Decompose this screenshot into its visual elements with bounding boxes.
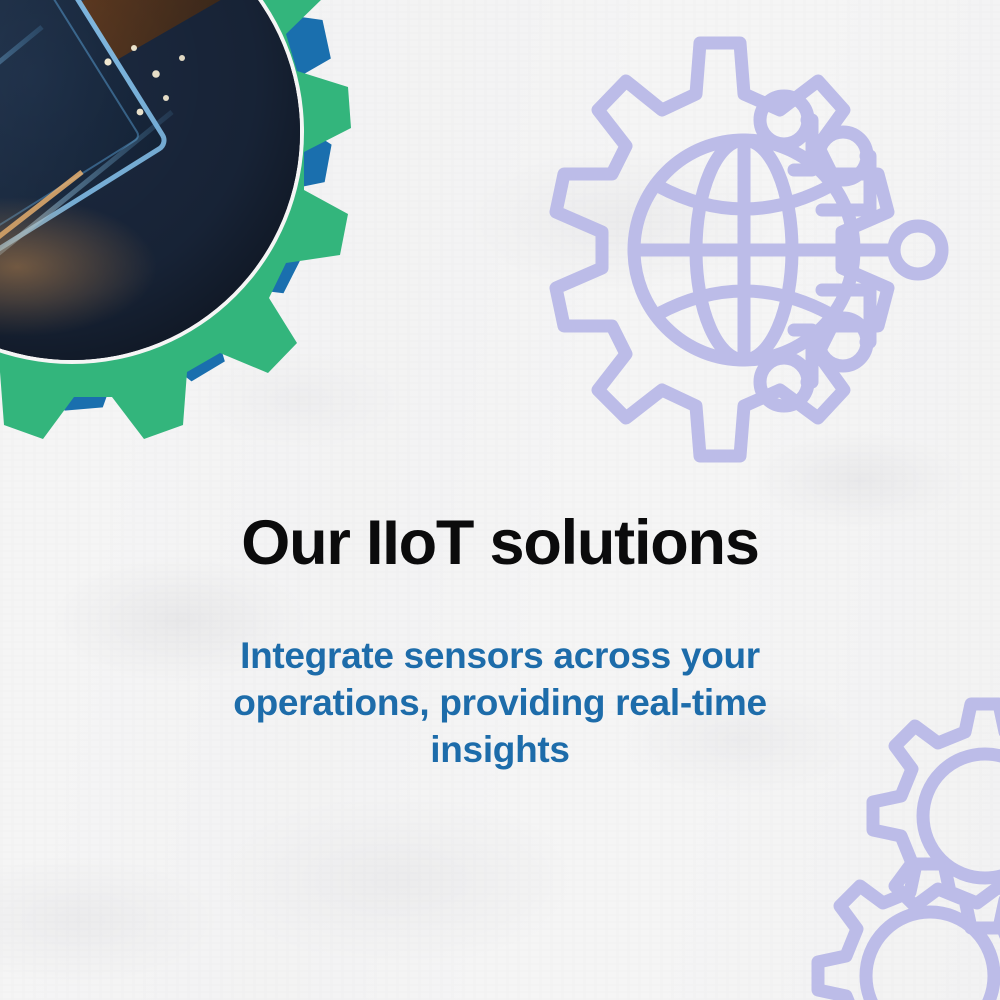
background-grain [0,0,1000,1000]
text-block: Our IIoT solutions Integrate sensors acr… [0,512,1000,774]
page-title: Our IIoT solutions [90,512,910,575]
page-subtitle: Integrate sensors across your operations… [195,633,805,774]
poster-canvas: Our IIoT solutions Integrate sensors acr… [0,0,1000,1000]
